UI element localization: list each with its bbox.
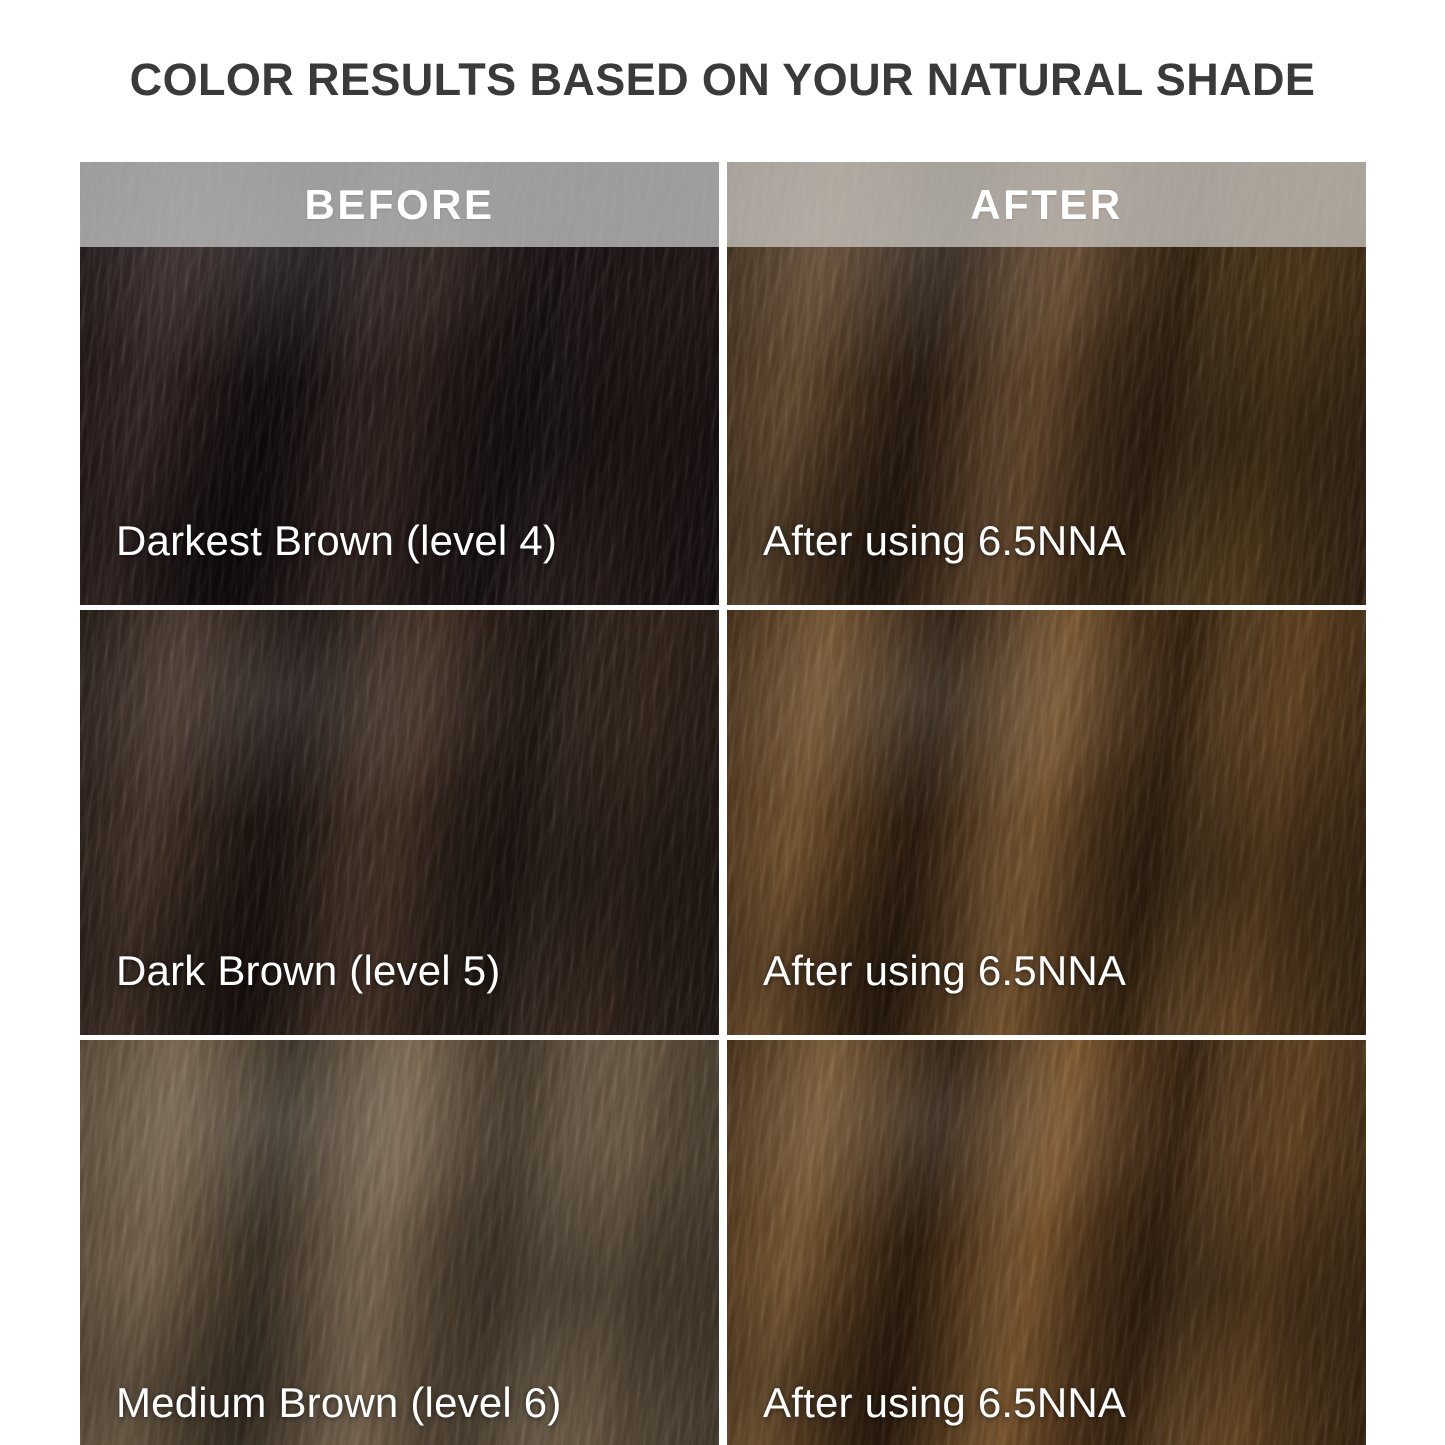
- column-header-before: BEFORE: [80, 162, 719, 247]
- column-header-after-label: AFTER: [970, 184, 1123, 226]
- swatch-caption-before-level-6: Medium Brown (level 6): [116, 1381, 562, 1425]
- column-divider: [719, 610, 727, 1035]
- swatch-cell-after-level-6: After using 6.5NNA: [727, 1040, 1366, 1445]
- column-divider: [719, 162, 727, 605]
- swatch-cell-before-level-5: Dark Brown (level 5): [80, 610, 719, 1035]
- swatch-caption-before-level-4: Darkest Brown (level 4): [116, 519, 557, 563]
- swatch-caption-before-level-5: Dark Brown (level 5): [116, 949, 500, 993]
- swatch-caption-after-level-6: After using 6.5NNA: [763, 1381, 1126, 1425]
- before-after-comparison-grid: BEFORE Darkest Brown (level 4) AFTER Aft…: [80, 162, 1366, 1445]
- product-color-results-graphic: COLOR RESULTS BASED ON YOUR NATURAL SHAD…: [0, 0, 1445, 1445]
- swatch-cell-after-level-4: AFTER After using 6.5NNA: [727, 162, 1366, 605]
- swatch-caption-after-level-5: After using 6.5NNA: [763, 949, 1126, 993]
- swatch-cell-after-level-5: After using 6.5NNA: [727, 610, 1366, 1035]
- swatch-cell-before-level-6: Medium Brown (level 6): [80, 1040, 719, 1445]
- column-header-after: AFTER: [727, 162, 1366, 247]
- column-header-before-label: BEFORE: [304, 184, 494, 226]
- page-title: COLOR RESULTS BASED ON YOUR NATURAL SHAD…: [0, 52, 1445, 108]
- swatch-cell-before-level-4: BEFORE Darkest Brown (level 4): [80, 162, 719, 605]
- swatch-caption-after-level-4: After using 6.5NNA: [763, 519, 1126, 563]
- column-divider: [719, 1040, 727, 1445]
